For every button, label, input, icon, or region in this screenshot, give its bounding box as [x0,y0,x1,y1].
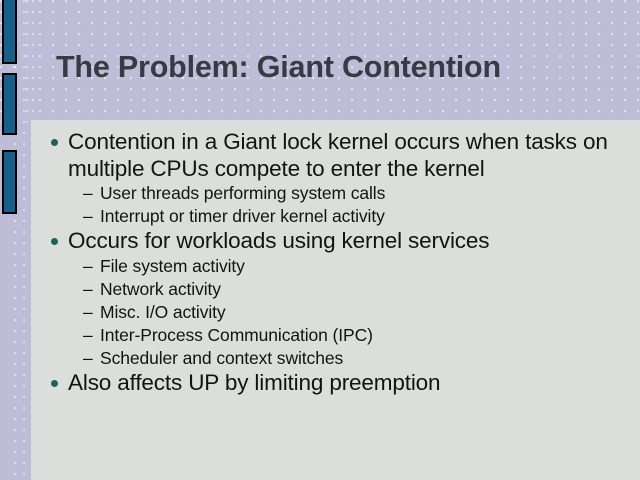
bullet-dash-icon: – [83,205,100,228]
bullet-disc-icon [48,370,68,397]
bullet-item: Also affects UP by limiting preemption [48,370,626,397]
bullet-text: Contention in a Giant lock kernel occurs… [68,129,626,182]
sub-bullet-text: Inter-Process Communication (IPC) [100,324,373,347]
sub-bullet-text: Interrupt or timer driver kernel activit… [100,205,385,228]
sub-bullet-item: –Scheduler and context switches [83,347,626,370]
bullet-disc-icon [48,129,68,156]
bullet-disc-icon [48,228,68,255]
sub-bullet-text: User threads performing system calls [100,182,385,205]
sub-bullet-text: Network activity [100,278,221,301]
bullet-dash-icon: – [83,182,100,205]
bullet-disc-icon-shape [51,238,58,245]
sub-bullet-text: Misc. I/O activity [100,301,226,324]
sub-bullet-item: –File system activity [83,255,626,278]
content-panel: Contention in a Giant lock kernel occurs… [31,120,640,480]
sub-bullet-text: File system activity [100,255,245,278]
sub-bullet-item: –User threads performing system calls [83,182,626,205]
bullet-item: Contention in a Giant lock kernel occurs… [48,129,626,182]
bullet-dash-icon: – [83,255,100,278]
bullet-dash-icon: – [83,278,100,301]
sub-bullet-item: –Interrupt or timer driver kernel activi… [83,205,626,228]
accent-bar-2 [2,73,17,135]
bullet-dash-icon: – [83,347,100,370]
slide: The Problem: Giant Contention Contention… [0,0,640,480]
accent-bar-1 [2,0,17,64]
bullet-text: Also affects UP by limiting preemption [68,370,440,397]
bullet-disc-icon-shape [51,380,58,387]
bullet-dash-icon: – [83,324,100,347]
sub-bullet-text: Scheduler and context switches [100,347,343,370]
bullet-text: Occurs for workloads using kernel servic… [68,228,489,255]
sub-bullet-item: –Network activity [83,278,626,301]
bullet-disc-icon-shape [51,139,58,146]
sub-bullet-item: –Inter-Process Communication (IPC) [83,324,626,347]
page-title: The Problem: Giant Contention [56,49,626,85]
bullet-list: Contention in a Giant lock kernel occurs… [46,129,626,397]
bullet-dash-icon: – [83,301,100,324]
bullet-item: Occurs for workloads using kernel servic… [48,228,626,255]
accent-bar-3 [2,150,17,214]
sub-bullet-item: –Misc. I/O activity [83,301,626,324]
